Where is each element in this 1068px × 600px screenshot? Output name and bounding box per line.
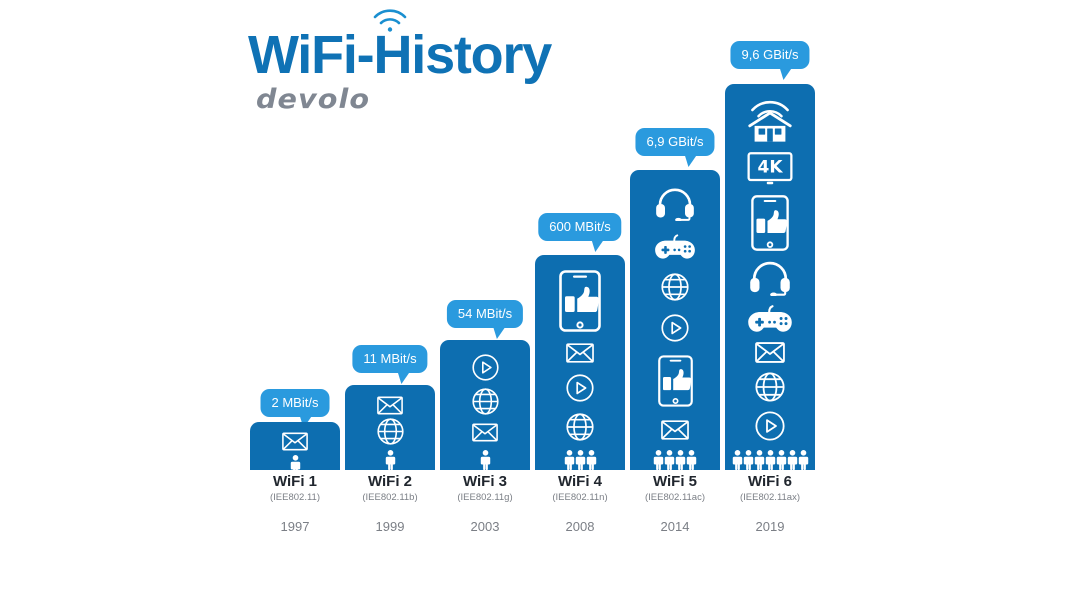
device-people-wifi-4	[535, 448, 625, 470]
bar-icons-wifi-5	[630, 180, 720, 448]
envelope-icon	[377, 396, 403, 415]
wifi-history-chart: 4K 2 MBit/s WiFi 1 (IEE802.11) 1997	[0, 0, 1068, 600]
bar-icons-wifi-3	[440, 350, 530, 448]
labels-wifi-4: WiFi 4 (IEE802.11n) 2008	[535, 474, 625, 534]
column-standard-wifi-1: (IEE802.11)	[250, 493, 340, 503]
headset-icon	[749, 260, 791, 296]
person-icon	[754, 450, 765, 470]
bar-wifi-2[interactable]	[345, 385, 435, 470]
play-icon	[661, 314, 689, 342]
person-icon	[686, 450, 697, 470]
column-year-wifi-3: 2003	[440, 520, 530, 534]
envelope-icon	[755, 342, 785, 363]
bar-icons-wifi-1	[250, 432, 340, 453]
play-icon	[755, 411, 785, 441]
speed-bubble-wifi-5: 6,9 GBit/s	[635, 128, 714, 156]
person-icon	[765, 450, 776, 470]
bar-wifi-1[interactable]	[250, 422, 340, 470]
envelope-icon	[282, 432, 308, 451]
play-icon	[472, 354, 499, 381]
person-icon	[480, 450, 491, 470]
smartphone-thumbsup-icon	[559, 270, 601, 332]
bar-wifi-5[interactable]	[630, 170, 720, 470]
device-people-wifi-6	[725, 448, 815, 470]
column-name-wifi-3: WiFi 3	[440, 474, 530, 491]
person-icon	[653, 450, 664, 470]
person-icon	[776, 450, 787, 470]
column-standard-wifi-6: (IEE802.11ax)	[725, 493, 815, 503]
labels-wifi-2: WiFi 2 (IEE802.11b) 1999	[345, 474, 435, 534]
labels-wifi-5: WiFi 5 (IEE802.11ac) 2014	[630, 474, 720, 534]
labels-wifi-6: WiFi 6 (IEE802.11ax) 2019	[725, 474, 815, 534]
device-people-wifi-3	[440, 448, 530, 470]
person-icon	[664, 450, 675, 470]
column-year-wifi-1: 1997	[250, 520, 340, 534]
globe-icon	[566, 413, 594, 441]
speed-bubble-wifi-3: 54 MBit/s	[447, 300, 523, 328]
speed-bubble-wifi-1: 2 MBit/s	[261, 389, 330, 417]
column-name-wifi-5: WiFi 5	[630, 474, 720, 491]
column-name-wifi-6: WiFi 6	[725, 474, 815, 491]
device-people-wifi-2	[345, 448, 435, 470]
device-people-wifi-1	[250, 453, 340, 470]
person-icon	[798, 450, 809, 470]
speed-bubble-wifi-4: 600 MBit/s	[538, 213, 621, 241]
person-icon	[290, 455, 301, 470]
bar-wifi-4[interactable]	[535, 255, 625, 470]
gamepad-icon	[654, 234, 696, 260]
bar-wifi-6[interactable]	[725, 84, 815, 470]
speed-bubble-wifi-2: 11 MBit/s	[352, 345, 427, 373]
column-standard-wifi-5: (IEE802.11ac)	[630, 493, 720, 503]
envelope-icon	[472, 423, 498, 442]
globe-icon	[472, 388, 499, 415]
column-name-wifi-2: WiFi 2	[345, 474, 435, 491]
bar-icons-wifi-2	[345, 395, 435, 448]
labels-wifi-1: WiFi 1 (IEE802.11) 1997	[250, 474, 340, 534]
bar-icons-wifi-4	[535, 265, 625, 448]
person-icon	[385, 450, 396, 470]
globe-icon	[755, 372, 785, 402]
envelope-icon	[661, 420, 689, 440]
person-icon	[732, 450, 743, 470]
column-year-wifi-5: 2014	[630, 520, 720, 534]
column-year-wifi-6: 2019	[725, 520, 815, 534]
globe-icon	[661, 273, 689, 301]
column-name-wifi-4: WiFi 4	[535, 474, 625, 491]
bar-icons-wifi-6	[725, 94, 815, 448]
headset-icon	[655, 187, 695, 221]
column-standard-wifi-4: (IEE802.11n)	[535, 493, 625, 503]
envelope-icon	[566, 343, 594, 363]
device-people-wifi-5	[630, 448, 720, 470]
speed-bubble-wifi-6: 9,6 GBit/s	[730, 41, 809, 69]
gamepad-icon	[747, 305, 793, 333]
person-icon	[564, 450, 575, 470]
bar-wifi-3[interactable]	[440, 340, 530, 470]
column-year-wifi-4: 2008	[535, 520, 625, 534]
person-icon	[575, 450, 586, 470]
tv-4k-icon	[747, 152, 793, 186]
column-name-wifi-1: WiFi 1	[250, 474, 340, 491]
labels-wifi-3: WiFi 3 (IEE802.11g) 2003	[440, 474, 530, 534]
person-icon	[586, 450, 597, 470]
column-year-wifi-2: 1999	[345, 520, 435, 534]
smart-home-icon	[747, 99, 793, 143]
play-icon	[566, 374, 594, 402]
person-icon	[743, 450, 754, 470]
globe-icon	[377, 418, 404, 445]
person-icon	[787, 450, 798, 470]
smartphone-thumbsup-icon	[658, 355, 693, 407]
person-icon	[675, 450, 686, 470]
column-standard-wifi-2: (IEE802.11b)	[345, 493, 435, 503]
column-standard-wifi-3: (IEE802.11g)	[440, 493, 530, 503]
smartphone-thumbsup-icon	[751, 195, 789, 251]
